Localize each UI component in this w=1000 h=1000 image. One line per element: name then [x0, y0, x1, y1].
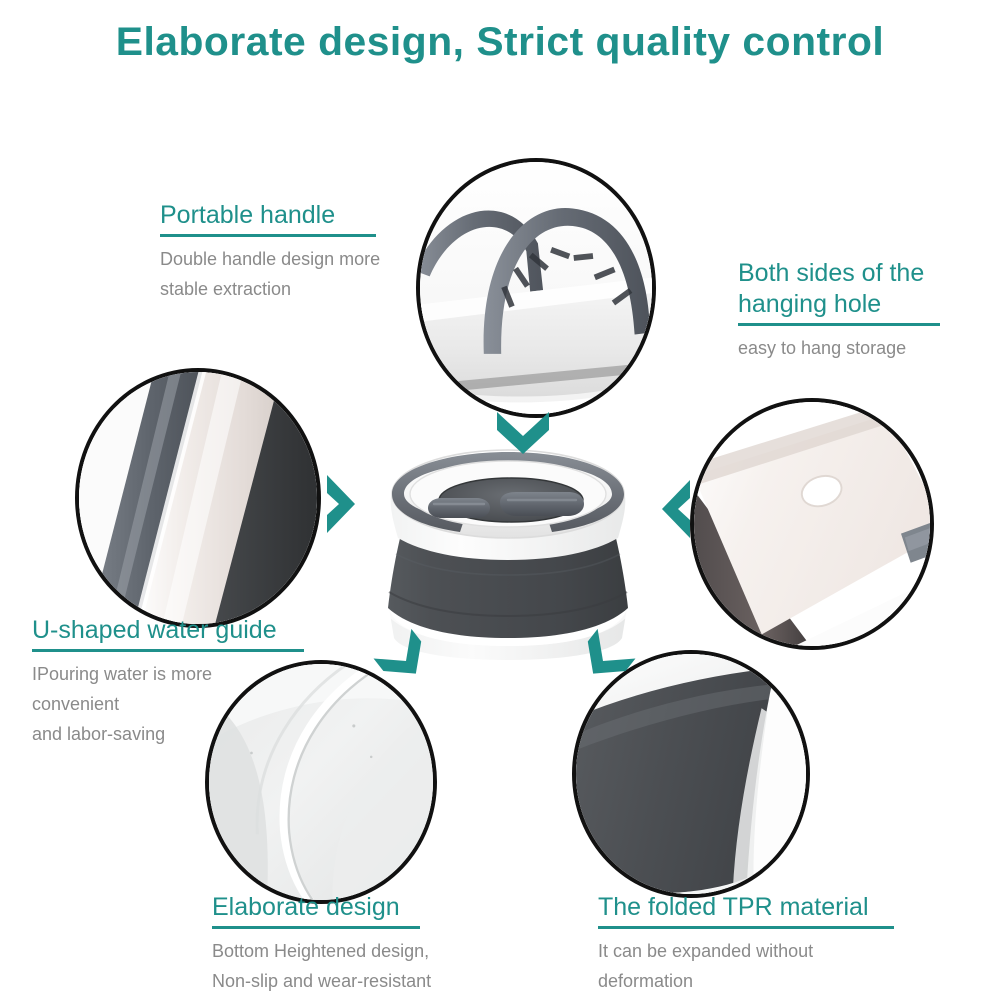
callout-elaborate-design-line-1: Bottom Heightened design, [212, 936, 492, 966]
callout-water-guide-line-3: and labor-saving [32, 719, 312, 749]
callout-folded-tpr: The folded TPR material It can be expand… [598, 892, 898, 996]
infographic-root: Elaborate design, Strict quality control [0, 0, 1000, 1000]
callout-water-guide-rule [32, 649, 304, 652]
callout-portable-handle-heading: Portable handle [160, 200, 392, 231]
callout-elaborate-design-line-2: Non-slip and wear-resistant [212, 966, 492, 996]
page-title: Elaborate design, Strict quality control [0, 20, 1000, 65]
callout-water-guide: U-shaped water guide IPouring water is m… [32, 615, 312, 749]
callout-hanging-hole-heading-line-1: Both sides of the [738, 258, 948, 289]
callout-portable-handle: Portable handle Double handle design mor… [160, 200, 392, 304]
chevron-up-left-icon [575, 633, 631, 689]
callout-hanging-hole-rule [738, 323, 940, 326]
callout-water-guide-line-1: IPouring water is more [32, 659, 312, 689]
chevron-right-icon [325, 473, 357, 535]
callout-portable-handle-rule [160, 234, 376, 237]
callout-water-guide-line-2: convenient [32, 689, 312, 719]
callout-hanging-hole-heading-line-2: hanging hole [738, 289, 948, 320]
callout-elaborate-design: Elaborate design Bottom Heightened desig… [212, 892, 492, 996]
photo-product-hero [372, 442, 644, 662]
callout-portable-handle-line-2: stable extraction [160, 274, 392, 304]
chevron-up-right-icon [378, 633, 434, 689]
chevron-left-icon [660, 478, 692, 540]
callout-hanging-hole: Both sides of the hanging hole easy to h… [738, 258, 948, 363]
photo-water-guide-detail [75, 368, 321, 628]
callout-elaborate-design-rule [212, 926, 420, 929]
water-guide-art [79, 372, 317, 624]
callout-folded-tpr-rule [598, 926, 894, 929]
callout-folded-tpr-heading: The folded TPR material [598, 892, 898, 923]
callout-portable-handle-line-1: Double handle design more [160, 244, 392, 274]
chevron-down-icon [495, 408, 551, 454]
callout-folded-tpr-line-1: It can be expanded without [598, 936, 898, 966]
tpr-detail-art [576, 654, 806, 894]
callout-hanging-hole-line-1: easy to hang storage [738, 333, 948, 363]
photo-handle-detail [416, 158, 656, 418]
product-hero-art [372, 442, 644, 662]
hanging-hole-art [694, 402, 930, 646]
callout-elaborate-design-heading: Elaborate design [212, 892, 492, 923]
callout-water-guide-heading: U-shaped water guide [32, 615, 312, 646]
handle-detail-art [420, 162, 652, 414]
photo-hanging-hole-detail [690, 398, 934, 650]
callout-folded-tpr-line-2: deformation [598, 966, 898, 996]
